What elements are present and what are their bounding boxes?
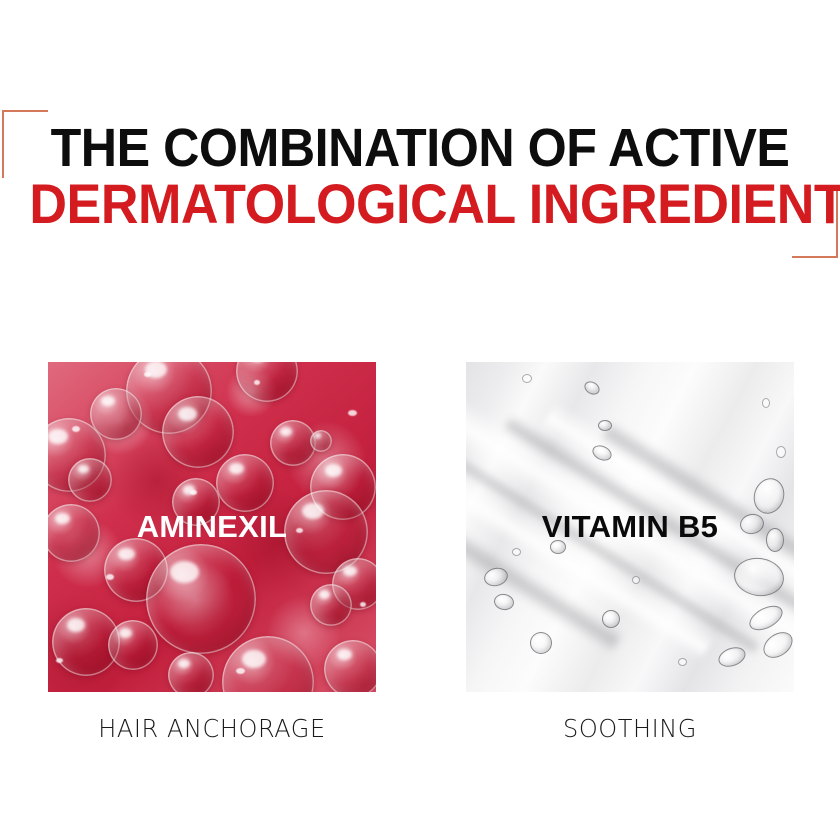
ingredient-image-aminexil: AMINEXIL <box>48 362 376 692</box>
ingredient-benefit-aminexil: HAIR ANCHORAGE <box>55 714 370 743</box>
headline-line-2: DERMATOLOGICAL INGREDIENTS <box>29 177 810 232</box>
ingredients-infographic: THE COMBINATION OF ACTIVE DERMATOLOGICAL… <box>0 0 840 840</box>
headline-line-1: THE COMBINATION OF ACTIVE <box>29 122 810 175</box>
ingredient-name-aminexil: AMINEXIL <box>48 509 376 545</box>
ingredient-name-vitamin-b5: VITAMIN B5 <box>466 509 794 545</box>
ingredient-card-aminexil: AMINEXIL HAIR ANCHORAGE <box>48 362 376 743</box>
ingredient-image-vitamin-b5: VITAMIN B5 <box>466 362 794 692</box>
headline-block: THE COMBINATION OF ACTIVE DERMATOLOGICAL… <box>0 122 840 232</box>
ingredient-card-vitamin-b5: VITAMIN B5 SOOTHING <box>466 362 794 743</box>
ingredient-benefit-vitamin-b5: SOOTHING <box>473 714 788 743</box>
